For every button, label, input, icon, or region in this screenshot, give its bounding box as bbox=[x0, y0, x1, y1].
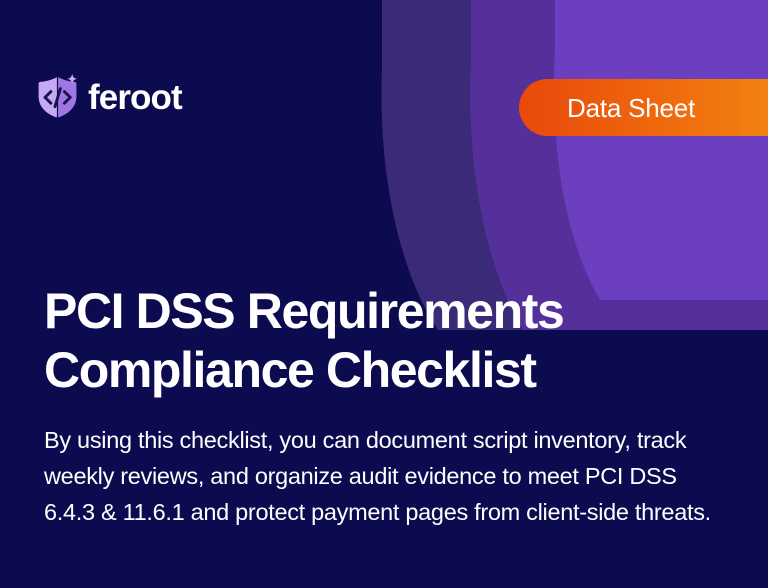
data-sheet-badge: Data Sheet bbox=[519, 79, 768, 136]
feroot-logo[interactable]: feroot bbox=[37, 73, 182, 119]
page-description: By using this checklist, you can documen… bbox=[44, 422, 744, 531]
data-sheet-badge-label: Data Sheet bbox=[567, 95, 695, 121]
feroot-shield-code-icon bbox=[37, 73, 79, 119]
page-title: PCI DSS Requirements Compliance Checklis… bbox=[44, 282, 744, 400]
feroot-wordmark: feroot bbox=[88, 80, 182, 115]
shield-outer bbox=[381, 0, 768, 330]
datasheet-cover: feroot Data Sheet PCI DSS Requirements C… bbox=[0, 0, 768, 588]
hero-content: PCI DSS Requirements Compliance Checklis… bbox=[44, 282, 744, 531]
shield-middle bbox=[470, 0, 768, 330]
shield-inner bbox=[554, 0, 768, 300]
concentric-shields-decoration bbox=[338, 0, 768, 330]
